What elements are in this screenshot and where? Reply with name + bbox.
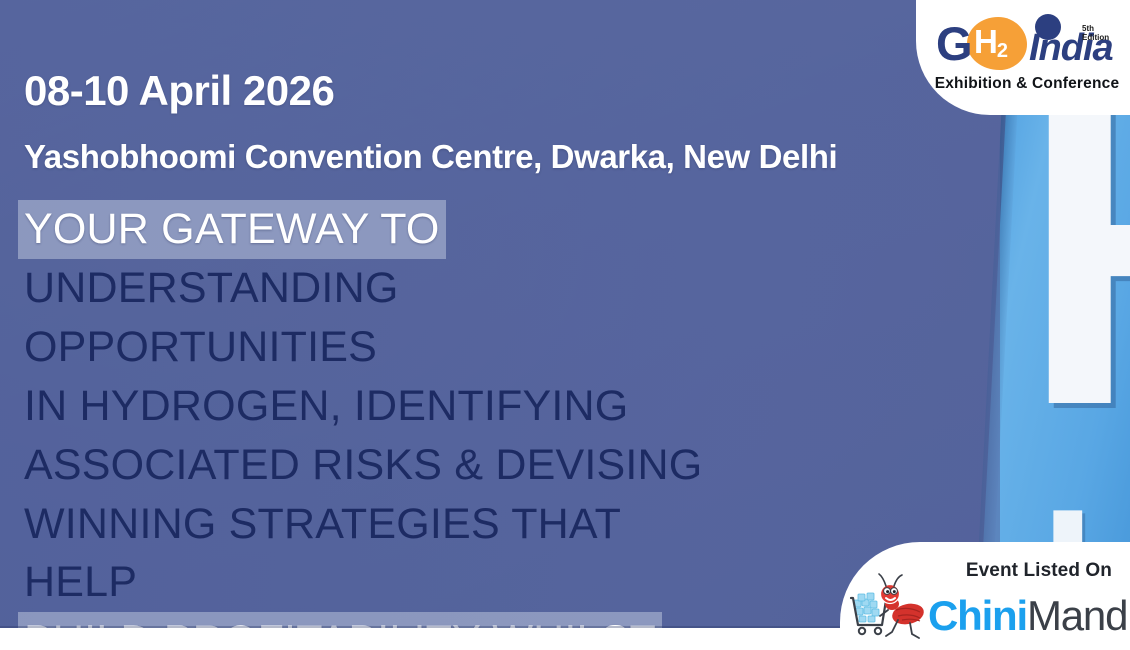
chinimandi-brand-second: Mandi — [1027, 596, 1130, 636]
gh2-india-logo[interactable]: G H2 India 5th Edition Exhibition & Conf… — [930, 12, 1120, 104]
headline-line-3: IN HYDROGEN, IDENTIFYING — [18, 377, 634, 436]
logo-letter-g: G — [936, 20, 971, 67]
logo-edition-badge: 5th Edition — [1082, 24, 1120, 42]
headline-line-4: ASSOCIATED RISKS & DEVISING — [18, 436, 708, 495]
logo-wordmark: G H2 India 5th Edition — [930, 12, 1120, 74]
event-banner: H H G H2 India 5th Edition Exhibition & … — [0, 0, 1130, 650]
headline-line-1: YOUR GATEWAY TO — [18, 200, 446, 259]
event-listing-badge: Event Listed On — [840, 542, 1130, 650]
logo-h: H — [974, 23, 997, 60]
event-venue: Yashobhoomi Convention Centre, Dwarka, N… — [24, 140, 837, 173]
ant-with-cart-icon — [846, 570, 938, 644]
logo-plate: G H2 India 5th Edition Exhibition & Conf… — [916, 0, 1130, 115]
headline-line-2: UNDERSTANDING OPPORTUNITIES — [18, 259, 744, 377]
chinimandi-brand-first: Chini — [928, 596, 1027, 636]
logo-h-subscript: 2 — [997, 40, 1007, 62]
event-dates: 08-10 April 2026 — [24, 70, 334, 112]
headline-line-5: WINNING STRATEGIES THAT HELP — [18, 495, 744, 613]
chinimandi-logo[interactable]: Chini Mandi .com — [928, 596, 1130, 636]
logo-letter-h2: H2 — [974, 25, 1007, 61]
background-h-letter: H — [1020, 88, 1130, 423]
headline-block: YOUR GATEWAY TO UNDERSTANDING OPPORTUNIT… — [24, 200, 744, 650]
listed-on-label: Event Listed On — [966, 560, 1112, 582]
logo-subtitle: Exhibition & Conference — [934, 75, 1120, 93]
